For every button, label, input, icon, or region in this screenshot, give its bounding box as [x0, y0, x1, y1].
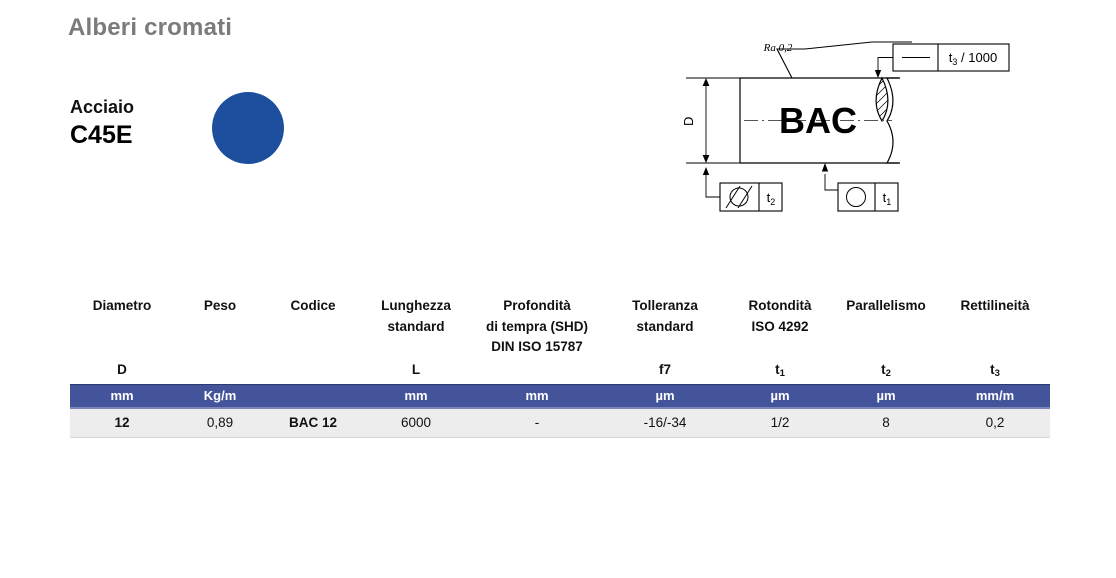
column-header-lunghezza: Lunghezza standard [360, 296, 472, 362]
header-line: Codice [266, 296, 360, 317]
symbol-base: f7 [659, 362, 671, 377]
header-line: standard [360, 317, 472, 338]
column-header-peso: Peso [174, 296, 266, 362]
specification-table: Diametro Peso Codice Lunghezza standard … [70, 296, 1050, 438]
symbol-base: L [412, 362, 420, 377]
part-label: BAC [779, 100, 857, 141]
header-line: DIN ISO 15787 [472, 337, 602, 358]
shaft-break-section [876, 78, 888, 121]
column-header-profondita: Profondità di tempra (SHD) DIN ISO 15787 [472, 296, 602, 362]
unit-rettilineita: mm/m [940, 385, 1050, 409]
symbol-base: t [881, 362, 886, 377]
symbol-parallelismo: t2 [832, 362, 940, 385]
table-header-row: Diametro Peso Codice Lunghezza standard … [70, 296, 1050, 362]
unit-profondita: mm [472, 385, 602, 409]
column-header-tolleranza: Tolleranza standard [602, 296, 728, 362]
table-symbol-row: D L f7 t1 t2 t3 [70, 362, 1050, 385]
roundness-value: t1 [883, 190, 892, 207]
roundness-symbol [847, 188, 866, 207]
roundness-leader-arrow [822, 163, 828, 172]
unit-rotondita: µm [728, 385, 832, 409]
cell-lunghezza: 6000 [360, 408, 472, 438]
unit-parallelismo: µm [832, 385, 940, 409]
material-block: Acciaio C45E [70, 96, 200, 150]
unit-lunghezza: mm [360, 385, 472, 409]
symbol-codice [266, 362, 360, 385]
symbol-sub: 1 [780, 368, 785, 379]
straightness-value: t3 / 1000 [949, 50, 997, 67]
header-line: Peso [174, 296, 266, 317]
column-header-rettilineita: Rettilineità [940, 296, 1050, 362]
header-line: Tolleranza [602, 296, 728, 317]
cell-rotondita: 1/2 [728, 408, 832, 438]
header-line: Parallelismo [832, 296, 940, 317]
cell-rettilineita: 0,2 [940, 408, 1050, 438]
header-line: di tempra (SHD) [472, 317, 602, 338]
symbol-sub: 2 [886, 368, 891, 379]
straightness-leader-arrow [875, 70, 881, 78]
table-unit-row: mm Kg/m mm mm µm µm µm mm/m [70, 385, 1050, 409]
symbol-diametro: D [70, 362, 174, 385]
header-line: standard [602, 317, 728, 338]
symbol-base: t [990, 362, 995, 377]
cell-codice: BAC 12 [266, 408, 360, 438]
header-line: Profondità [472, 296, 602, 317]
symbol-tolleranza: f7 [602, 362, 728, 385]
unit-diametro: mm [70, 385, 174, 409]
header-line: Rettilineità [940, 296, 1050, 317]
surface-finish-symbol [777, 42, 912, 78]
header-line: Rotondità [728, 296, 832, 317]
header-line: Lunghezza [360, 296, 472, 317]
unit-tolleranza: µm [602, 385, 728, 409]
unit-codice [266, 385, 360, 409]
header-line: Diametro [70, 296, 174, 317]
symbol-peso [174, 362, 266, 385]
cell-peso: 0,89 [174, 408, 266, 438]
technical-drawing: D BAC Ra 0,2 t3 / 1000 [660, 28, 1060, 223]
symbol-rettilineita: t3 [940, 362, 1050, 385]
cell-profondita: - [472, 408, 602, 438]
symbol-profondita [472, 362, 602, 385]
header-line: ISO 4292 [728, 317, 832, 338]
page-title: Alberi cromati [68, 14, 232, 42]
column-header-codice: Codice [266, 296, 360, 362]
column-header-diametro: Diametro [70, 296, 174, 362]
table-row[interactable]: 12 0,89 BAC 12 6000 - -16/-34 1/2 8 0,2 [70, 408, 1050, 438]
column-header-parallelismo: Parallelismo [832, 296, 940, 362]
column-header-rotondita: Rotondità ISO 4292 [728, 296, 832, 362]
cell-parallelismo: 8 [832, 408, 940, 438]
cell-tolleranza: -16/-34 [602, 408, 728, 438]
symbol-rotondita: t1 [728, 362, 832, 385]
symbol-base: D [117, 362, 127, 377]
diameter-label: D [681, 117, 696, 126]
unit-peso: Kg/m [174, 385, 266, 409]
blue-circle-swatch [212, 92, 284, 164]
surface-finish-label: Ra 0,2 [763, 42, 793, 54]
symbol-sub: 3 [995, 368, 1000, 379]
material-grade: C45E [70, 120, 200, 150]
symbol-lunghezza: L [360, 362, 472, 385]
cell-diametro: 12 [70, 408, 174, 438]
parallelism-value: t2 [767, 190, 776, 207]
material-label: Acciaio [70, 96, 200, 118]
parallelism-leader-arrow [703, 167, 709, 175]
symbol-base: t [775, 362, 780, 377]
